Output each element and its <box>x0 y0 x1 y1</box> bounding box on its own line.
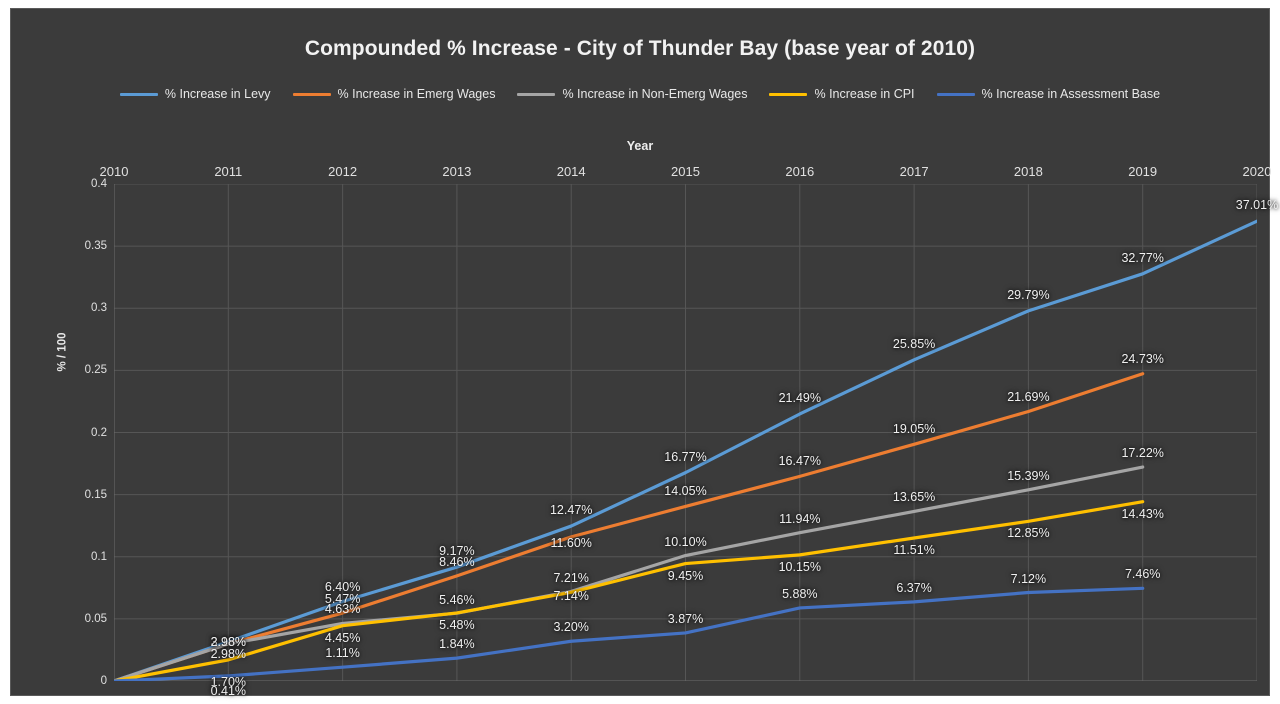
legend-swatch-icon <box>293 93 331 96</box>
y-axis-tick-label: 0.3 <box>51 302 107 314</box>
y-axis-tick-label: 0.2 <box>51 427 107 439</box>
legend-item-label: % Increase in Levy <box>165 87 271 101</box>
legend-item[interactable]: % Increase in Levy <box>120 87 271 101</box>
legend-item[interactable]: % Increase in Assessment Base <box>937 87 1161 101</box>
x-axis-title: Year <box>11 139 1269 153</box>
x-axis-tick-label: 2013 <box>442 164 471 179</box>
legend-item-label: % Increase in Emerg Wages <box>338 87 496 101</box>
x-axis-tick-label: 2014 <box>557 164 586 179</box>
x-axis-tick-label: 2012 <box>328 164 357 179</box>
legend-item-label: % Increase in Assessment Base <box>982 87 1161 101</box>
legend-item-label: % Increase in Non-Emerg Wages <box>562 87 747 101</box>
x-axis-tick-label: 2010 <box>100 164 129 179</box>
data-point-label: 0.41% <box>211 684 246 698</box>
x-axis-tick-label: 2015 <box>671 164 700 179</box>
chart-card: Compounded % Increase - City of Thunder … <box>10 8 1270 696</box>
legend-item[interactable]: % Increase in Non-Emerg Wages <box>517 87 747 101</box>
y-axis-tick-label: 0.35 <box>51 240 107 252</box>
chart-legend: % Increase in Levy% Increase in Emerg Wa… <box>11 87 1269 101</box>
x-axis-tick-label: 2018 <box>1014 164 1043 179</box>
y-axis-tick-label: 0.15 <box>51 489 107 501</box>
x-axis-tick-label: 2020 <box>1243 164 1272 179</box>
y-axis-tick-label: 0.05 <box>51 613 107 625</box>
y-axis-tick-label: 0 <box>51 675 107 687</box>
x-axis-tick-label: 2017 <box>900 164 929 179</box>
y-axis-tick-label: 0.25 <box>51 364 107 376</box>
legend-swatch-icon <box>517 93 555 96</box>
page-title: Compounded % Increase - City of Thunder … <box>11 37 1269 61</box>
x-axis-tick-label: 2019 <box>1128 164 1157 179</box>
y-axis-tick-label: 0.4 <box>51 178 107 190</box>
legend-item[interactable]: % Increase in CPI <box>769 87 914 101</box>
plot-area: 3.16%6.40%9.17%12.47%16.77%21.49%25.85%2… <box>114 184 1257 681</box>
plot-svg <box>114 184 1257 681</box>
x-axis-tick-label: 2016 <box>785 164 814 179</box>
legend-swatch-icon <box>937 93 975 96</box>
legend-item-label: % Increase in CPI <box>814 87 914 101</box>
legend-item[interactable]: % Increase in Emerg Wages <box>293 87 496 101</box>
legend-swatch-icon <box>769 93 807 96</box>
y-axis-tick-label: 0.1 <box>51 551 107 563</box>
legend-swatch-icon <box>120 93 158 96</box>
x-axis-tick-label: 2011 <box>214 164 242 179</box>
